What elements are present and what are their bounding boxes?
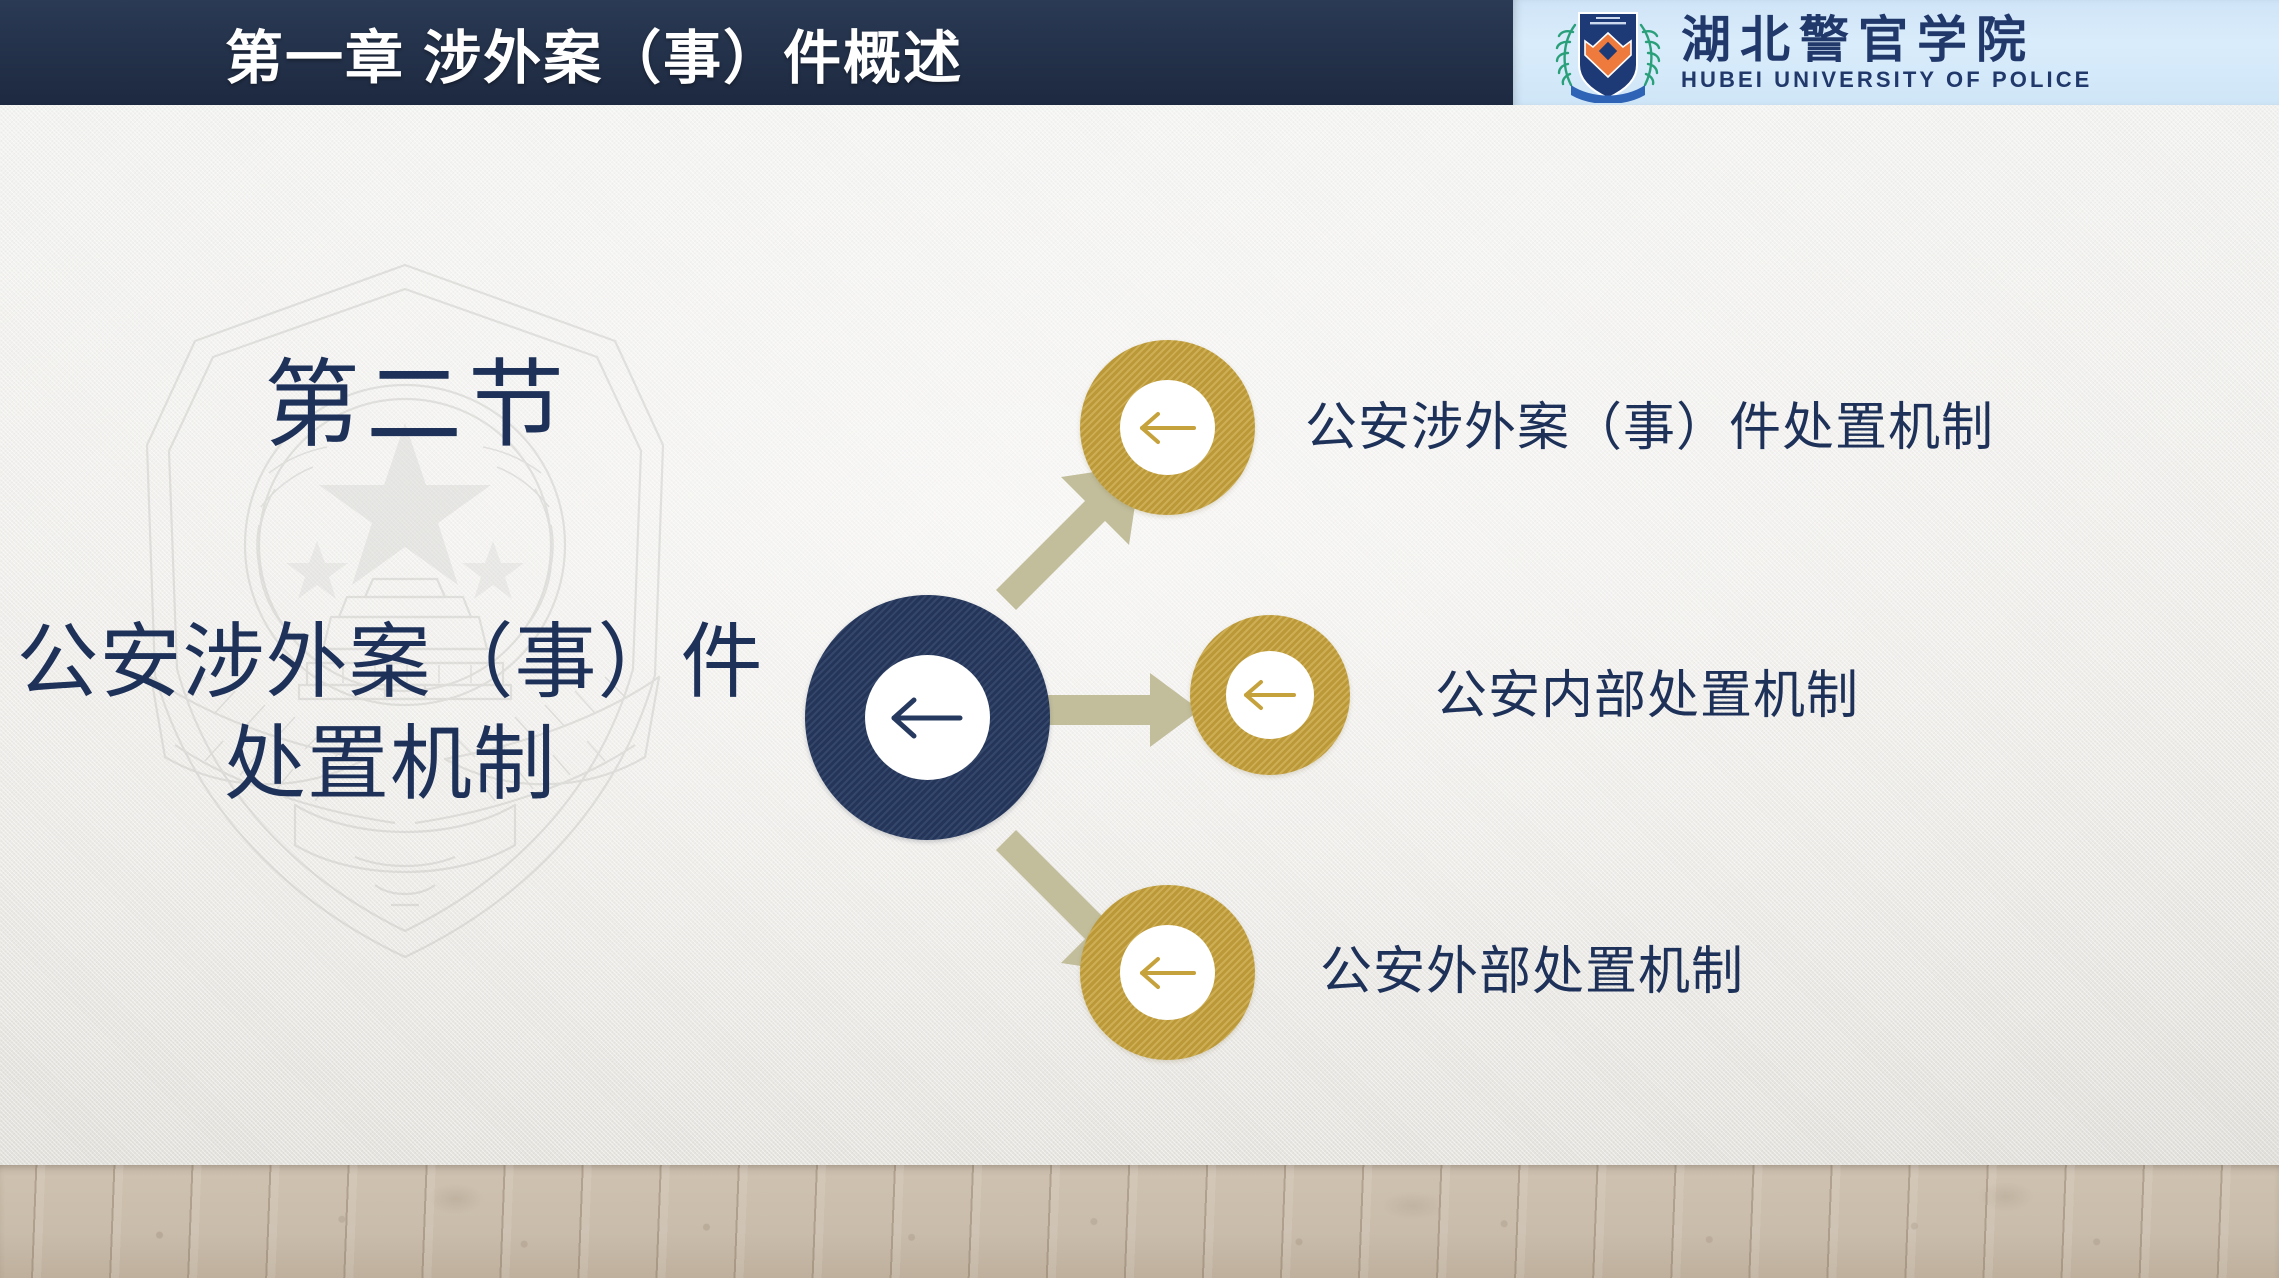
diagram-label-top: 公安涉外案（事）件处置机制 bbox=[1305, 402, 1994, 454]
slide: 第一章 涉外案（事）件概述 bbox=[0, 0, 2279, 1278]
brand-name-cn: 湖北警官学院 bbox=[1681, 15, 2092, 65]
process-diagram: 公安涉外案（事）件处置机制 公安内部处置机制 公安外部处置机制 bbox=[760, 340, 2270, 1100]
left-title-line-2: 处置机制 bbox=[10, 714, 770, 816]
arrow-left-icon bbox=[1241, 679, 1299, 711]
slide-header: 第一章 涉外案（事）件概述 bbox=[0, 0, 2279, 105]
floor-strip bbox=[0, 1165, 2279, 1278]
hubei-police-shield-icon bbox=[1549, 3, 1667, 103]
arrow-left-icon bbox=[1137, 411, 1199, 445]
center-node-inner bbox=[865, 655, 990, 780]
diagram-branch-node-top[interactable] bbox=[1080, 340, 1255, 515]
diagram-label-middle: 公安内部处置机制 bbox=[1435, 670, 1859, 722]
diagram-branch-node-middle[interactable] bbox=[1190, 615, 1350, 775]
page-title: 第一章 涉外案（事）件概述 bbox=[225, 0, 963, 105]
left-title: 公安涉外案（事）件 处置机制 bbox=[10, 612, 770, 815]
diagram-label-bottom: 公安外部处置机制 bbox=[1320, 946, 1744, 998]
diagram-branch-node-bottom[interactable] bbox=[1080, 885, 1255, 1060]
top-node-inner bbox=[1120, 380, 1215, 475]
brand-text: 湖北警官学院 HUBEI UNIVERSITY OF POLICE bbox=[1681, 15, 2092, 91]
diagram-center-node[interactable] bbox=[805, 595, 1050, 840]
middle-node-inner bbox=[1226, 651, 1314, 739]
section-label: 第二节 bbox=[232, 358, 602, 454]
brand-name-en: HUBEI UNIVERSITY OF POLICE bbox=[1681, 69, 2092, 91]
arrow-left-icon bbox=[888, 696, 968, 740]
arrow-right-icon bbox=[1048, 673, 1200, 747]
left-title-line-1: 公安涉外案（事）件 bbox=[10, 612, 770, 714]
brand-panel: 湖北警官学院 HUBEI UNIVERSITY OF POLICE bbox=[1513, 0, 2279, 105]
arrow-left-icon bbox=[1137, 956, 1199, 990]
bottom-node-inner bbox=[1120, 925, 1215, 1020]
